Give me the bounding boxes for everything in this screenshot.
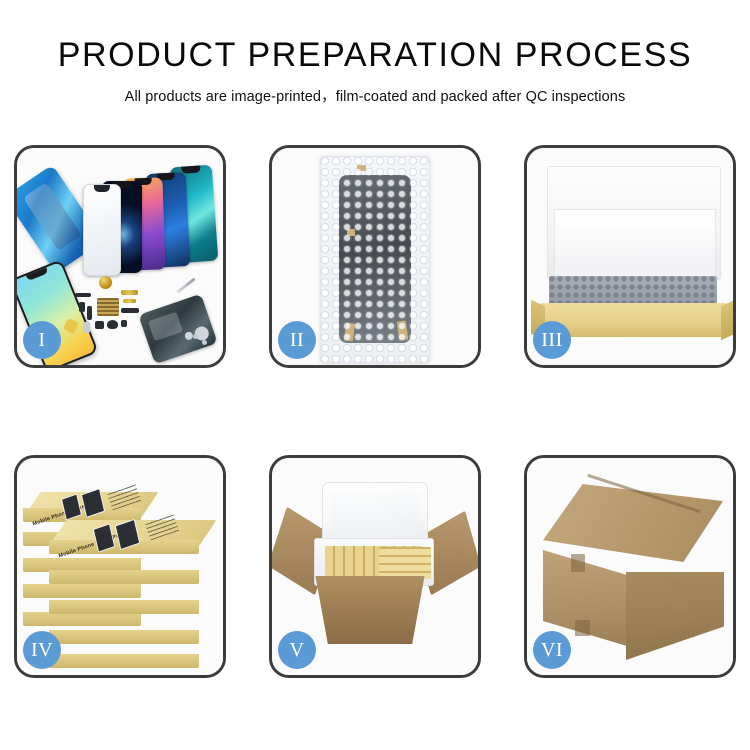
step-badge-2: II: [278, 321, 316, 359]
tape-strip-icon: [357, 165, 366, 171]
screwdriver-icon: [176, 278, 195, 294]
box-side-face: [49, 654, 199, 668]
notch-icon: [181, 165, 200, 173]
notch-icon: [94, 185, 110, 192]
step-badge-5: V: [278, 631, 316, 669]
step-panel-2[interactable]: II: [269, 145, 481, 368]
foam-lid-icon: [547, 166, 721, 280]
box-side-face: [49, 600, 199, 614]
small-part-icon: [79, 302, 85, 312]
kraft-box-item: [49, 554, 199, 584]
connector-grid-part-icon: [97, 298, 119, 316]
page-title: PRODUCT PREPARATION PROCESS: [0, 38, 750, 72]
step-badge-6: VI: [533, 631, 571, 669]
bubble-wrap-bag-icon: [320, 156, 430, 363]
step-panel-1[interactable]: I: [14, 145, 226, 368]
vibrator-part-icon: [107, 320, 118, 329]
camera-ring-part-icon: [99, 276, 112, 289]
step-panel-4[interactable]: Mobile Phone Spare Parts Mobile P: [14, 455, 226, 678]
screw-part-icon: [202, 340, 207, 345]
speaker-part-icon: [75, 293, 91, 297]
step-panel-6[interactable]: VI: [524, 455, 736, 678]
tape-strip-icon: [347, 229, 355, 236]
flex-cable-part-icon: [123, 299, 136, 303]
small-part-icon: [95, 321, 104, 329]
screw-part-icon: [193, 334, 198, 339]
small-part-icon: [121, 320, 127, 327]
flex-cable-part-icon: [121, 290, 138, 295]
flex-ribbon-part-icon: [121, 308, 139, 313]
box-side-face: [49, 570, 199, 584]
carton-tape-icon: [571, 554, 585, 572]
box-side-face: [49, 630, 199, 644]
page-header: PRODUCT PREPARATION PROCESS All products…: [0, 0, 750, 106]
process-step-grid: I II III: [14, 145, 736, 678]
phone-back-housing-icon: [138, 294, 217, 365]
carton-top-face-icon: [543, 484, 723, 562]
kraft-box-item: [49, 584, 199, 614]
step-badge-3: III: [533, 321, 571, 359]
carton-body-icon: [308, 576, 432, 644]
step-panel-3[interactable]: III: [524, 145, 736, 368]
step-badge-4: IV: [23, 631, 61, 669]
grey-bubble-padding-icon: [549, 276, 717, 306]
kraft-boxes-inside-icon: [379, 547, 431, 579]
step-badge-1: I: [23, 321, 61, 359]
wrapped-screen-icon: [339, 175, 411, 343]
small-part-icon: [87, 306, 92, 320]
kraft-box-item: [49, 614, 199, 644]
phone-glass-front-icon: [83, 184, 121, 276]
sim-tray-part-icon: [83, 322, 90, 333]
page-subtitle: All products are image-printed，film-coat…: [0, 85, 750, 106]
kraft-box-item: [49, 644, 199, 668]
foam-lid-icon: [322, 482, 428, 546]
carton-tape-icon: [575, 620, 590, 636]
notch-icon: [26, 267, 48, 281]
carton-right-face-icon: [626, 572, 724, 660]
step-panel-5[interactable]: V: [269, 455, 481, 678]
